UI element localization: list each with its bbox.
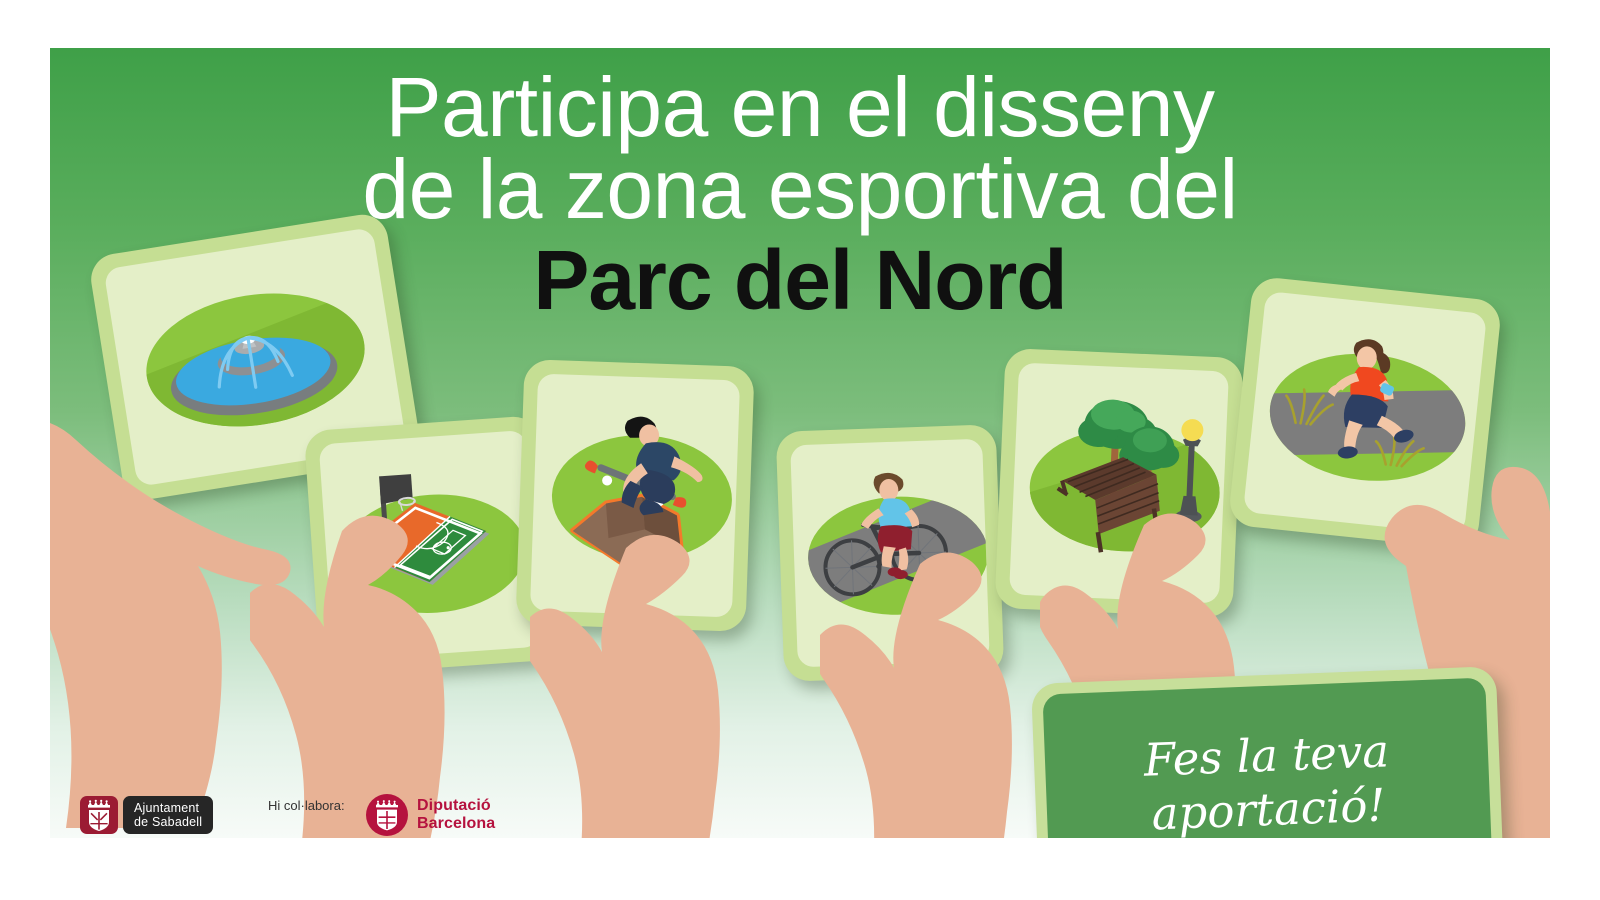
- card-skatepark-face: [530, 374, 740, 618]
- diputacio-emblem-icon: [366, 794, 408, 836]
- cta-line-2: aportació!: [1151, 778, 1387, 840]
- sports-court-icon: [319, 430, 541, 661]
- card-park-bench[interactable]: [994, 348, 1243, 618]
- card-park-bench-face: [1009, 363, 1229, 604]
- sabadell-shield-icon: [80, 796, 118, 834]
- card-bike-path-face: [790, 439, 990, 668]
- card-running-face: [1243, 291, 1487, 535]
- ajuntament-wordmark: Ajuntament de Sabadell: [123, 796, 213, 834]
- card-skatepark[interactable]: [515, 359, 754, 632]
- card-running[interactable]: [1228, 276, 1503, 551]
- ajuntament-line-1: Ajuntament: [134, 801, 202, 815]
- skateboard-icon: [530, 374, 740, 618]
- runner-icon: [1243, 291, 1487, 535]
- diputacio-line-2: Barcelona: [417, 815, 495, 833]
- poster-canvas: Participa en el disseny de la zona espor…: [0, 0, 1600, 900]
- card-bike-path[interactable]: [776, 424, 1005, 682]
- card-courts-face: [319, 430, 541, 661]
- ajuntament-logo[interactable]: Ajuntament de Sabadell: [80, 796, 213, 834]
- cta-text: Fes la teva aportació!: [1129, 724, 1406, 841]
- cta-line-1: Fes la teva: [1143, 725, 1390, 787]
- collaborate-label: Hi col·labora:: [268, 798, 345, 813]
- ajuntament-line-2: de Sabadell: [134, 815, 202, 829]
- bench-icon: [1009, 363, 1229, 604]
- diputacio-wordmark: Diputació Barcelona: [417, 797, 495, 833]
- footer-bar: [0, 838, 1600, 900]
- diputacio-logo[interactable]: Diputació Barcelona: [366, 794, 495, 836]
- diputacio-line-1: Diputació: [417, 797, 495, 815]
- bicycle-icon: [790, 439, 990, 668]
